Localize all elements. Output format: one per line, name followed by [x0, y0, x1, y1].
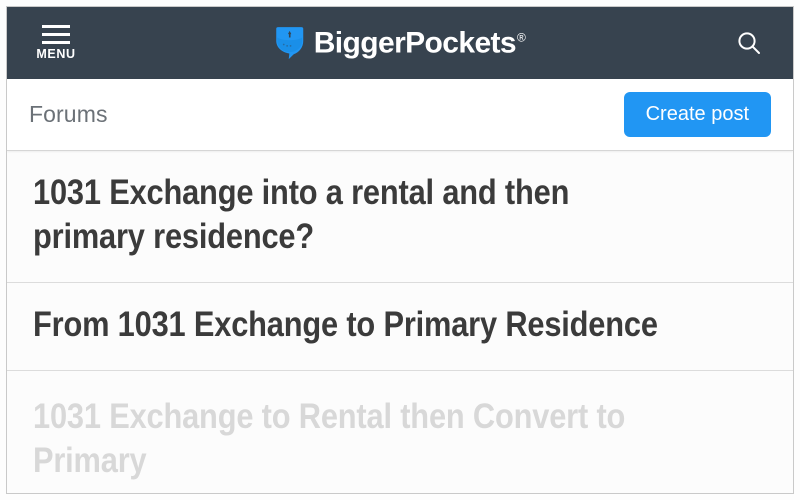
screenshot-viewport: MENU BiggerPockets®: [0, 0, 800, 500]
biggerpockets-shield-logo-icon: [275, 27, 305, 60]
forum-post-list: 1031 Exchange into a rental and then pri…: [7, 151, 793, 494]
hamburger-icon: [42, 25, 70, 44]
menu-button[interactable]: MENU: [29, 25, 83, 61]
forums-subheader: Forums Create post: [7, 79, 793, 151]
browser-page-frame: MENU BiggerPockets®: [6, 6, 794, 494]
brand-name-text: BiggerPockets: [314, 26, 516, 59]
search-button[interactable]: [729, 23, 769, 63]
forum-post-item[interactable]: From 1031 Exchange to Primary Residence: [7, 283, 793, 371]
forum-post-title: 1031 Exchange to Rental then Convert to …: [33, 395, 681, 484]
forum-post-title: 1031 Exchange into a rental and then pri…: [33, 171, 681, 260]
brand-wordmark: BiggerPockets®: [314, 28, 526, 58]
page-title: Forums: [29, 103, 108, 126]
forum-post-item[interactable]: 1031 Exchange into a rental and then pri…: [7, 151, 793, 283]
forum-post-title: From 1031 Exchange to Primary Residence: [33, 303, 681, 347]
site-header: MENU BiggerPockets®: [7, 7, 793, 79]
brand-logo[interactable]: BiggerPockets®: [275, 27, 526, 60]
search-icon: [736, 30, 762, 56]
menu-button-label: MENU: [36, 48, 75, 61]
registered-trademark-icon: ®: [517, 30, 525, 44]
forum-post-item[interactable]: 1031 Exchange to Rental then Convert to …: [7, 371, 793, 494]
create-post-button[interactable]: Create post: [624, 92, 771, 137]
